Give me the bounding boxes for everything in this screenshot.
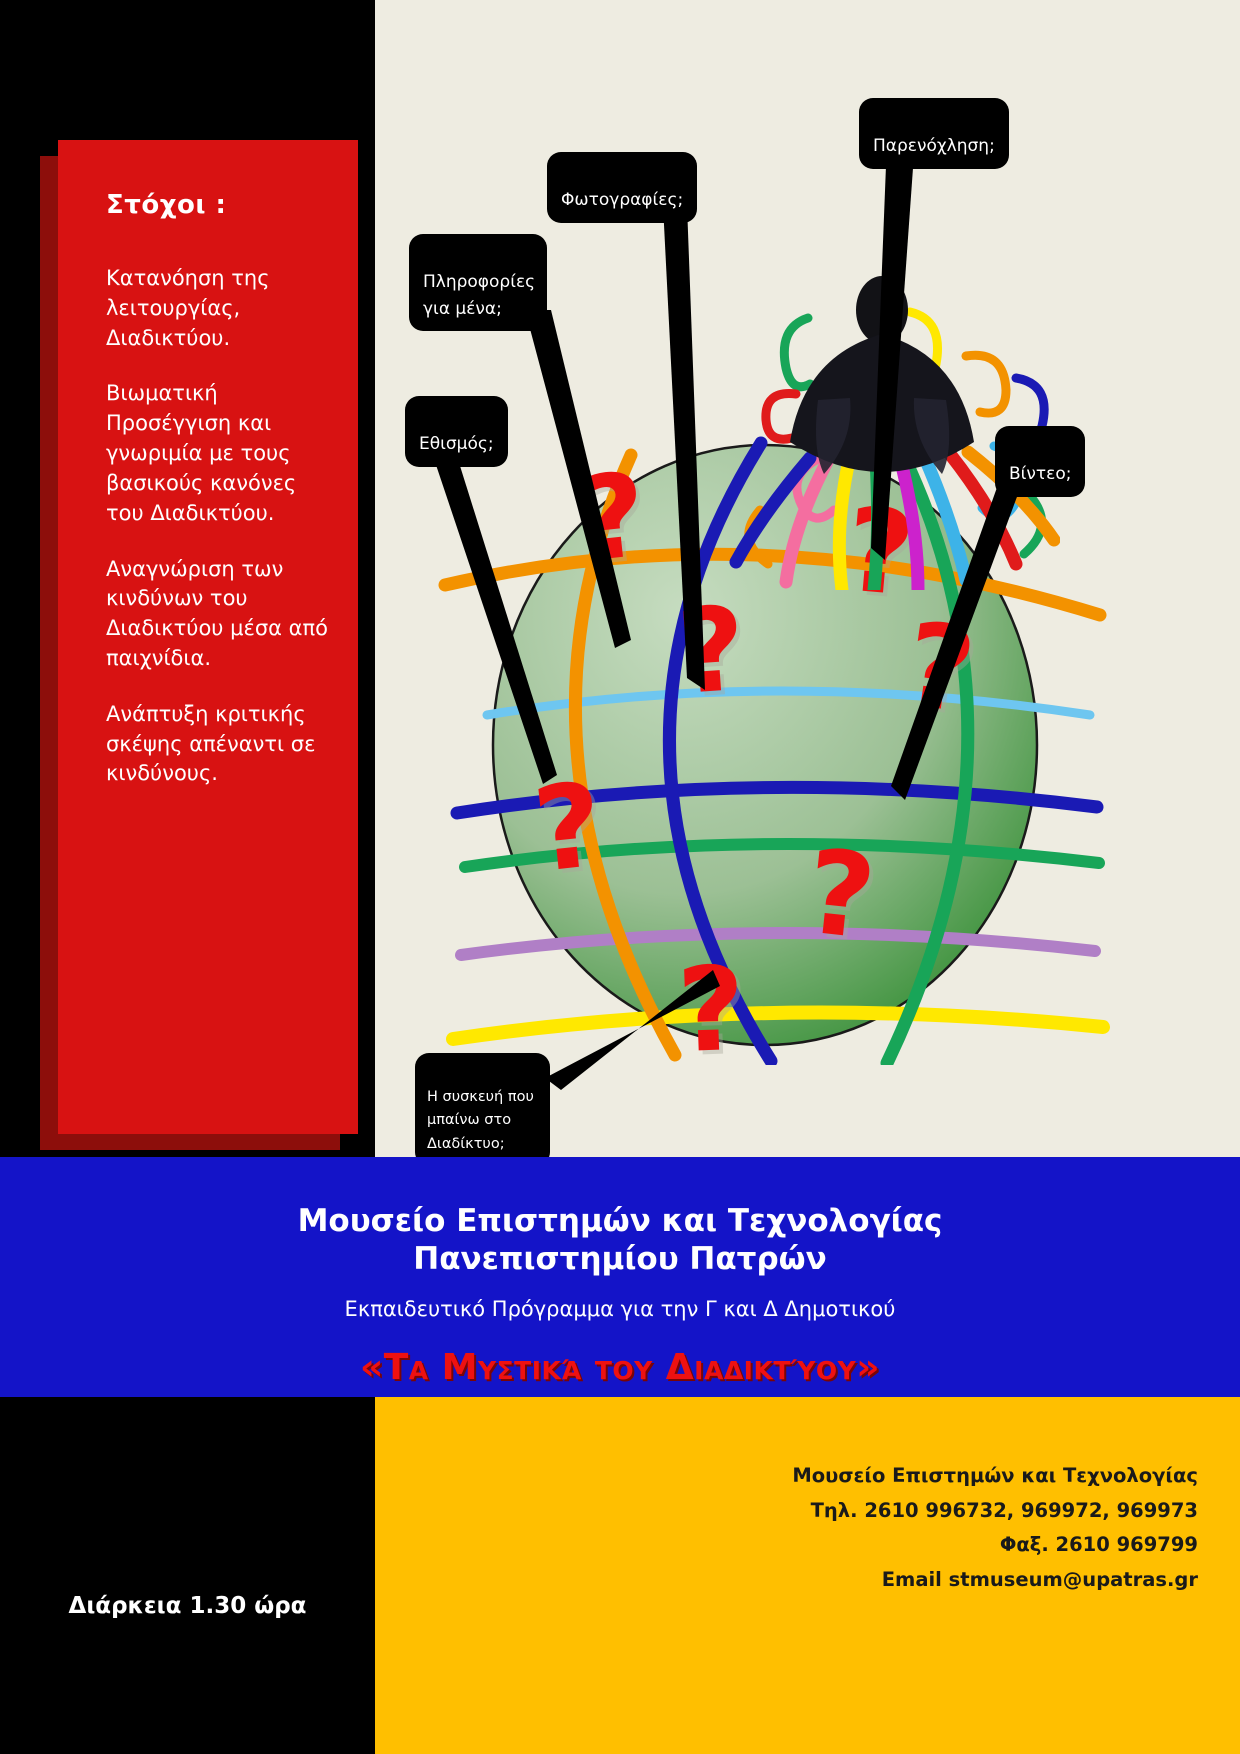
organisation-line-2: Πανεπιστημίου Πατρών [0, 1241, 1240, 1279]
organisation-name: Μουσείο Επιστημών και Τεχνολογίας Πανεπι… [0, 1157, 1240, 1279]
contact-organisation: Μουσείο Επιστημών και Τεχνολογίας [792, 1459, 1198, 1494]
callout-label: Βίντεο; [1009, 464, 1071, 484]
callout-pointers [375, 0, 1240, 1157]
objectives-panel-body: Στόχοι : Κατανόηση της λειτουργίας, Διαδ… [58, 140, 358, 1134]
callout-label: Εθισμός; [419, 434, 494, 454]
callout-fotografies[interactable]: Φωτογραφίες; [547, 152, 697, 223]
programme-audience: Εκπαιδευτικό Πρόγραμμα για την Γ και Δ Δ… [0, 1279, 1240, 1321]
callout-plirofories[interactable]: Πληροφορίες για μένα; [409, 234, 547, 331]
objective-item: Αναγνώριση των κινδύνων του Διαδικτύου μ… [106, 555, 336, 674]
objective-item: Κατανόηση της λειτουργίας, Διαδικτύου. [106, 264, 336, 353]
objectives-panel: Στόχοι : Κατανόηση της λειτουργίας, Διαδ… [40, 140, 360, 1150]
contact-phone: Τηλ. 2610 996732, 969972, 969973 [792, 1494, 1198, 1529]
objective-item: Βιωματική Προσέγγιση και γνωριμία με του… [106, 379, 336, 528]
contact-email[interactable]: Email stmuseum@upatras.gr [792, 1563, 1198, 1598]
callout-label: Φωτογραφίες; [561, 190, 683, 210]
organisation-line-1: Μουσείο Επιστημών και Τεχνολογίας [0, 1203, 1240, 1241]
contact-fax: Φαξ. 2610 969799 [792, 1528, 1198, 1563]
programme-title: «Τα Μυστικά του Διαδικτύου» [0, 1321, 1240, 1388]
illustration-stage: ? ? ? ? ? ? ? ? ? ? ? ? ? ? [375, 0, 1240, 1157]
callout-label: Πληροφορίες για μένα; [423, 272, 535, 318]
callout-parenochlisi[interactable]: Παρενόχληση; [859, 98, 1009, 169]
callout-label: Η συσκευή που μπαίνω στο Διαδίκτυο; [427, 1089, 534, 1151]
poster-root: ? ? ? ? ? ? ? ? ? ? ? ? ? ? [0, 0, 1240, 1754]
duration-text: Διάρκεια 1.30 ώρα [0, 1593, 375, 1619]
callout-siskevi[interactable]: Η συσκευή που μπαίνω στο Διαδίκτυο; [415, 1053, 550, 1157]
objective-item: Ανάπτυξη κριτικής σκέψης απέναντι σε κιν… [106, 700, 336, 789]
organisation-band: Μουσείο Επιστημών και Τεχνολογίας Πανεπι… [0, 1157, 1240, 1397]
contact-block: Μουσείο Επιστημών και Τεχνολογίας Τηλ. 2… [792, 1459, 1198, 1598]
objectives-heading: Στόχοι : [106, 190, 336, 220]
callout-ethismos[interactable]: Εθισμός; [405, 396, 508, 467]
contact-panel: Μουσείο Επιστημών και Τεχνολογίας Τηλ. 2… [375, 1397, 1240, 1754]
callout-video[interactable]: Βίντεο; [995, 426, 1085, 497]
callout-label: Παρενόχληση; [873, 136, 995, 156]
duration-panel: Διάρκεια 1.30 ώρα [0, 1397, 375, 1754]
